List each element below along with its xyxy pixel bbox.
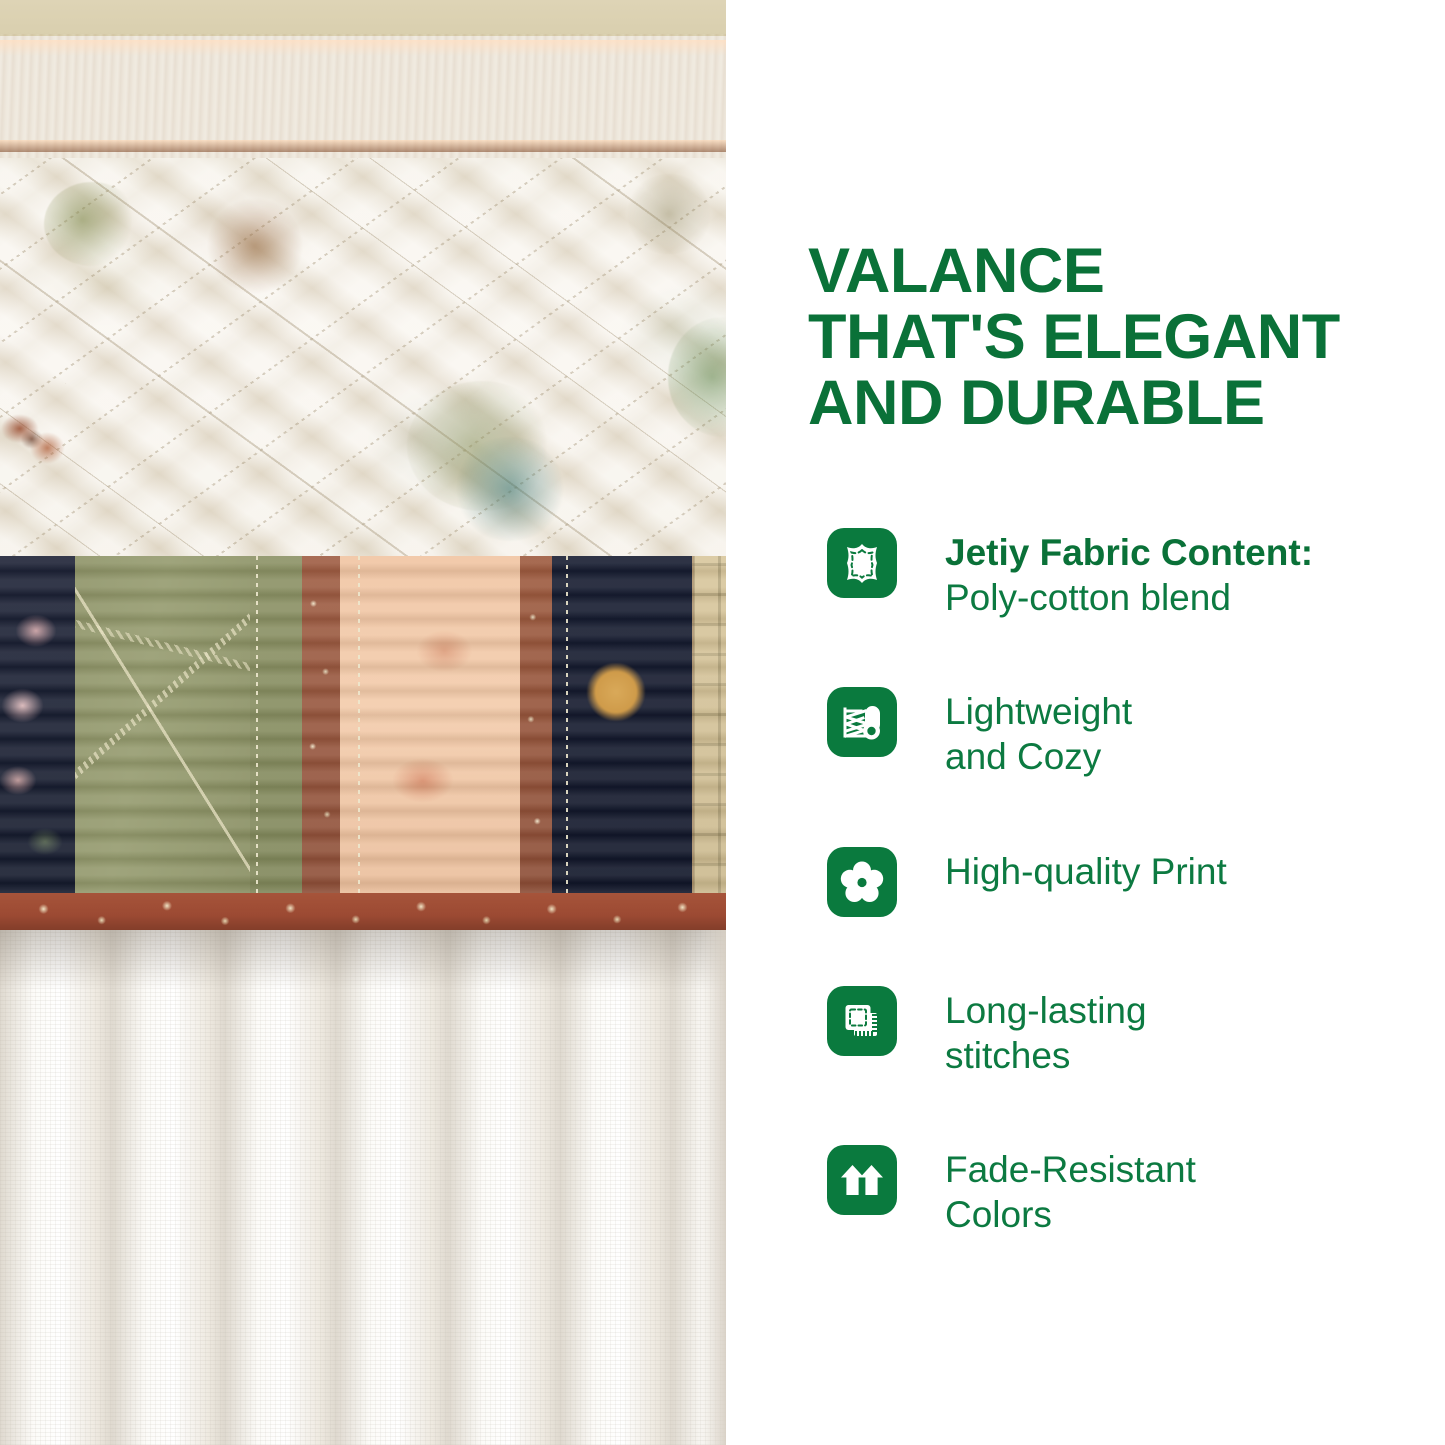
double-up-arrow-icon bbox=[827, 1145, 897, 1215]
headline-line-2: THAT'S ELEGANT bbox=[808, 304, 1408, 370]
fabric-roll-icon bbox=[827, 687, 897, 757]
vertical-stitch-line bbox=[566, 556, 568, 896]
botanical-motif bbox=[44, 182, 140, 266]
wall-background bbox=[0, 0, 726, 36]
botanical-motif bbox=[203, 198, 307, 294]
patchwork-strip bbox=[0, 556, 726, 896]
patch-navy-floral bbox=[0, 556, 75, 896]
patch-sage-green bbox=[75, 556, 250, 896]
patch-tan-plaid bbox=[692, 556, 726, 896]
fan-quilting-stitches bbox=[75, 556, 250, 896]
headline-line-1: VALANCE bbox=[808, 238, 1408, 304]
fade-resistant-line-2: Colors bbox=[945, 1192, 1427, 1237]
lightweight-line-2: and Cozy bbox=[945, 734, 1427, 779]
sheer-curtain-panel bbox=[0, 930, 726, 1445]
feature-item-print-quality: High-quality Print bbox=[827, 847, 1427, 919]
fabric-content-colon: : bbox=[1301, 532, 1313, 573]
patch-rust-floral-narrow-2 bbox=[520, 556, 552, 896]
feature-list: Jetiy Fabric Content: Poly-cotton blend bbox=[827, 528, 1427, 1237]
vertical-stitch-line bbox=[256, 556, 258, 896]
stacked-fabric-stitches-icon bbox=[827, 986, 897, 1056]
quilted-valance-panel bbox=[0, 158, 726, 556]
feature-text-lightweight: Lightweight and Cozy bbox=[945, 687, 1427, 779]
fabric-content-value: Poly-cotton blend bbox=[945, 575, 1427, 620]
linen-weave-texture bbox=[0, 930, 726, 1445]
page-title: VALANCE THAT'S ELEGANT AND DURABLE bbox=[808, 238, 1408, 436]
feature-item-fade-resistant: Fade-Resistant Colors bbox=[827, 1145, 1427, 1237]
feature-item-lightweight: Lightweight and Cozy bbox=[827, 687, 1427, 779]
patch-navy-maple-leaf bbox=[552, 556, 692, 896]
stitches-line-1: Long-lasting bbox=[945, 988, 1427, 1033]
patch-peach-floral bbox=[340, 556, 520, 896]
botanical-motif bbox=[450, 437, 570, 541]
cornice-highlight bbox=[0, 40, 726, 56]
product-photo bbox=[0, 0, 726, 1445]
infographic-canvas: VALANCE THAT'S ELEGANT AND DURABLE Jetiy… bbox=[0, 0, 1445, 1445]
headline-line-3: AND DURABLE bbox=[808, 370, 1408, 436]
curtain-top-shadow bbox=[0, 930, 726, 990]
curtain-right-edge bbox=[700, 930, 726, 1445]
feature-text-fade-resistant: Fade-Resistant Colors bbox=[945, 1145, 1427, 1237]
leather-hide-icon bbox=[827, 528, 897, 598]
cornice-lower-lip bbox=[0, 140, 726, 152]
rust-floral-binding bbox=[0, 893, 726, 933]
fabric-content-label: Jetiy Fabric Content bbox=[945, 532, 1301, 573]
stitches-line-2: stitches bbox=[945, 1033, 1427, 1078]
print-quality-line-1: High-quality Print bbox=[945, 849, 1427, 894]
fade-resistant-line-1: Fade-Resistant bbox=[945, 1147, 1427, 1192]
butterfly-motif bbox=[0, 405, 80, 479]
patch-sage-narrow bbox=[250, 556, 302, 896]
feature-item-fabric-content: Jetiy Fabric Content: Poly-cotton blend bbox=[827, 528, 1427, 620]
feature-text-stitches: Long-lasting stitches bbox=[945, 986, 1427, 1078]
botanical-motif bbox=[624, 174, 714, 254]
patch-rust-floral-narrow bbox=[302, 556, 340, 896]
wooden-cornice bbox=[0, 34, 726, 160]
feature-text-fabric-content: Jetiy Fabric Content: Poly-cotton blend bbox=[945, 528, 1427, 620]
flower-icon bbox=[827, 847, 897, 917]
feature-item-stitches: Long-lasting stitches bbox=[827, 986, 1427, 1078]
lightweight-line-1: Lightweight bbox=[945, 689, 1427, 734]
info-panel: VALANCE THAT'S ELEGANT AND DURABLE Jetiy… bbox=[726, 0, 1445, 1445]
vertical-stitch-line bbox=[358, 556, 360, 896]
feature-text-print-quality: High-quality Print bbox=[945, 847, 1427, 894]
